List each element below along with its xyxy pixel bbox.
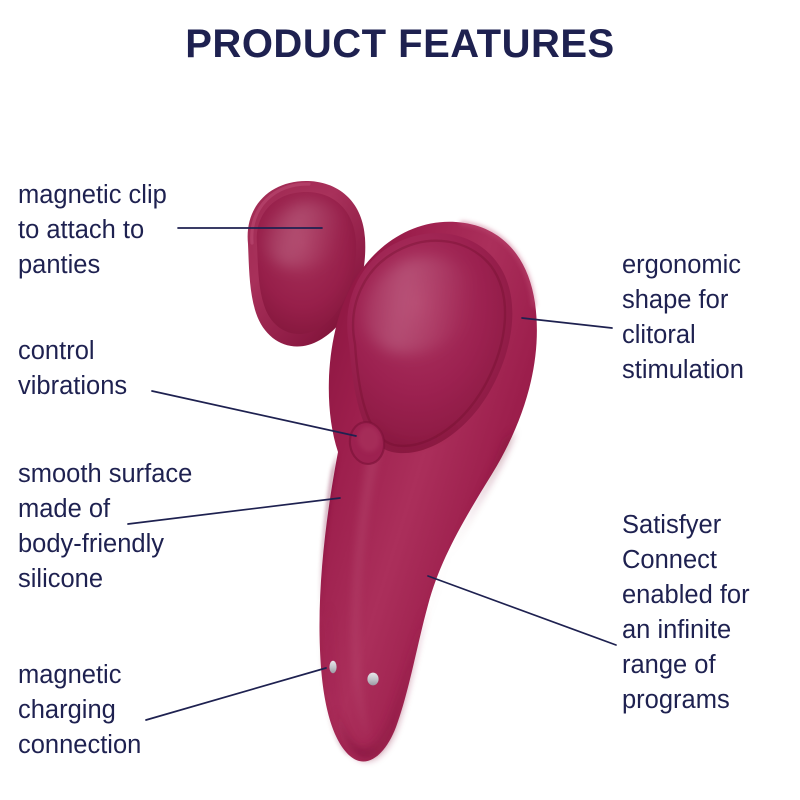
page-title: PRODUCT FEATURES [0,22,800,67]
callout-label-control-vibrations: control vibrations [18,334,258,404]
charging-contact-2 [367,673,378,686]
product-features-diagram: PRODUCT FEATURES magnetic clip to attach… [0,0,800,800]
callout-label-magnetic-clip: magnetic clip to attach to panties [18,178,258,283]
callout-label-magnetic-charging: magnetic charging connection [18,658,258,763]
callout-label-satisfyer-connect: Satisfyer Connect enabled for an infinit… [622,508,800,718]
charging-contact-1 [329,661,336,673]
callout-label-ergonomic-shape: ergonomic shape for clitoral stimulation [622,248,800,388]
callout-label-smooth-surface: smooth surface made of body-friendly sil… [18,457,273,597]
main-body [319,222,536,762]
